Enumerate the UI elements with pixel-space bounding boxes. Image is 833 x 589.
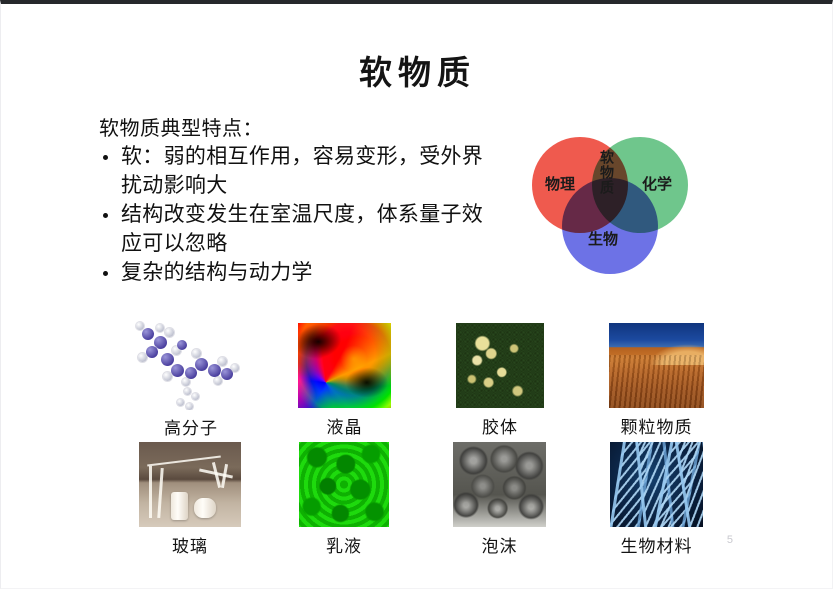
gallery-item-foam: 泡沫 xyxy=(453,442,546,552)
venn-label-soft-matter: 软物质 xyxy=(598,150,613,195)
gallery-item-granular: 颗粒物质 xyxy=(609,323,704,431)
bullet-item-1: 软：弱的相互作用，容易变形，受外界扰动影响大 xyxy=(99,142,499,200)
gallery-caption-glass: 玻璃 xyxy=(139,532,241,557)
venn-label-biology: 生物 xyxy=(588,232,618,247)
bullet-item-3: 复杂的结构与动力学 xyxy=(99,258,499,287)
liquid-crystal-texture-image xyxy=(298,323,391,408)
polymer-molecule-image xyxy=(132,320,250,410)
polymer-artwork xyxy=(132,320,250,410)
foam-artwork xyxy=(453,442,546,527)
content-text-block: 软物质典型特点： 软：弱的相互作用，容易变形，受外界扰动影响大 结构改变发生在室… xyxy=(99,115,499,287)
gallery-item-glass: 玻璃 xyxy=(139,442,241,552)
page-number: 5 xyxy=(727,534,733,546)
gallery-caption-granular: 颗粒物质 xyxy=(609,413,704,438)
gallery-item-emulsion: 乳液 xyxy=(299,442,389,552)
gallery-caption-liquid-crystal: 液晶 xyxy=(298,413,391,438)
glass-objects-photo-image xyxy=(139,442,241,527)
gallery-caption-polymer: 高分子 xyxy=(132,414,250,439)
intro-line: 软物质典型特点： xyxy=(99,115,499,142)
emulsion-droplets-image xyxy=(299,442,389,527)
dna-helix-image xyxy=(610,442,703,527)
presentation-slide: 软物质 软物质典型特点： 软：弱的相互作用，容易变形，受外界扰动影响大 结构改变… xyxy=(0,0,833,589)
colloid-micrograph-image xyxy=(456,323,544,408)
gallery-item-liquid-crystal: 液晶 xyxy=(298,323,391,431)
gallery-caption-emulsion: 乳液 xyxy=(299,532,389,557)
bullet-item-2: 结构改变发生在室温尺度，体系量子效应可以忽略 xyxy=(99,200,499,258)
slide-title: 软物质 xyxy=(1,46,833,94)
gallery-caption-biomaterial: 生物材料 xyxy=(610,532,703,557)
dna-artwork xyxy=(610,442,703,527)
sand-dunes-photo-image xyxy=(609,323,704,408)
gallery-caption-colloid: 胶体 xyxy=(456,413,544,438)
glass-artwork xyxy=(139,442,241,527)
emulsion-artwork xyxy=(299,442,389,527)
bullet-list: 软：弱的相互作用，容易变形，受外界扰动影响大 结构改变发生在室温尺度，体系量子效… xyxy=(99,142,499,287)
gallery-item-biomaterial: 生物材料 xyxy=(610,442,703,552)
sand-dunes-artwork xyxy=(609,323,704,408)
liquid-crystal-artwork xyxy=(298,323,391,408)
venn-label-chemistry: 化学 xyxy=(642,177,672,192)
venn-label-physics: 物理 xyxy=(545,177,575,192)
colloid-artwork xyxy=(456,323,544,408)
gallery-item-polymer: 高分子 xyxy=(132,320,250,430)
gallery-caption-foam: 泡沫 xyxy=(453,532,546,557)
venn-diagram: 物理 化学 生物 软物质 xyxy=(532,137,698,277)
gallery-item-colloid: 胶体 xyxy=(456,323,544,431)
foam-bubbles-image xyxy=(453,442,546,527)
